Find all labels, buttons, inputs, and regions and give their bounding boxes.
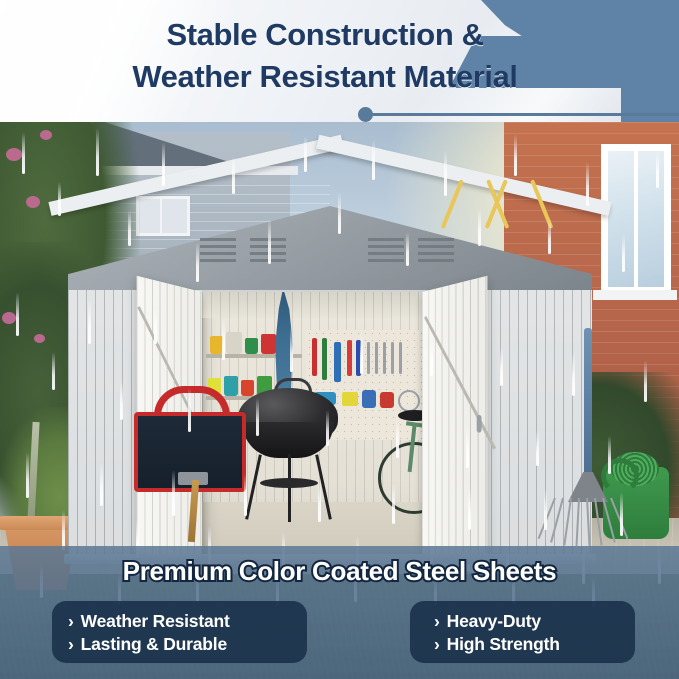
grill-lower-tray — [260, 478, 318, 488]
pliers-icon — [380, 392, 394, 408]
level-tool — [334, 342, 341, 382]
feature-item: ›Weather Resistant — [68, 611, 230, 632]
pliers-icon — [362, 390, 376, 408]
storage-container — [226, 332, 242, 354]
feature-label: Weather Resistant — [81, 611, 230, 631]
shed-door-right[interactable] — [422, 276, 487, 577]
rake-tine — [594, 498, 603, 546]
wrench-icon — [367, 342, 370, 374]
roof-vent-icon — [250, 238, 286, 264]
roof-vent-icon — [368, 238, 404, 264]
screwdriver-icon — [356, 340, 361, 376]
wrench-icon — [375, 342, 378, 374]
storage-container — [261, 334, 276, 354]
tool-hanging — [322, 338, 327, 380]
rake-handle — [584, 328, 592, 478]
blossom-icon — [6, 148, 22, 161]
bottom-overlay: Premium Color Coated Steel Sheets ›Weath… — [0, 546, 679, 679]
feature-label: High Strength — [447, 634, 560, 654]
feature-label: Heavy-Duty — [447, 611, 541, 631]
brick-house-window — [601, 144, 671, 294]
header-divider-dot — [358, 107, 373, 122]
wrench-icon — [391, 342, 394, 374]
storage-container — [241, 380, 254, 396]
blossom-icon — [34, 334, 45, 343]
blossom-icon — [2, 312, 16, 324]
chevron-right-icon: › — [434, 611, 440, 632]
storage-container — [224, 376, 238, 396]
feature-item: ›Heavy-Duty — [434, 611, 541, 632]
bottom-banner-title: Premium Color Coated Steel Sheets — [0, 556, 679, 587]
storage-container — [210, 336, 223, 354]
wrench-icon — [399, 342, 402, 374]
header-banner: Stable Construction & Weather Resistant … — [0, 0, 679, 122]
blossom-icon — [40, 130, 52, 140]
storage-container — [245, 338, 258, 354]
garden-trellis — [450, 180, 580, 226]
tool-hanging — [398, 390, 420, 412]
feature-box-left: ›Weather Resistant ›Lasting & Durable — [52, 601, 307, 663]
page-title: Stable Construction & Weather Resistant … — [0, 14, 650, 98]
feature-item: ›High Strength — [434, 634, 560, 655]
chevron-right-icon: › — [68, 611, 74, 632]
header-divider-line — [372, 113, 679, 116]
chevron-right-icon: › — [434, 634, 440, 655]
wrench-icon — [383, 342, 386, 374]
feature-item: ›Lasting & Durable — [68, 634, 227, 655]
grill-leg — [288, 454, 291, 522]
infographic-stage: Stable Construction & Weather Resistant … — [0, 0, 679, 679]
screwdriver-icon — [347, 340, 352, 376]
roof-vent-icon — [418, 238, 454, 264]
door-handle-right[interactable] — [477, 415, 482, 433]
chevron-right-icon: › — [68, 634, 74, 655]
feature-box-right: ›Heavy-Duty ›High Strength — [410, 601, 635, 663]
roof-vent-icon — [200, 238, 236, 264]
blossom-icon — [26, 196, 40, 208]
feature-label: Lasting & Durable — [81, 634, 227, 654]
tool-hanging — [312, 338, 317, 376]
trellis-bar — [530, 179, 553, 229]
pliers-icon — [342, 392, 358, 406]
